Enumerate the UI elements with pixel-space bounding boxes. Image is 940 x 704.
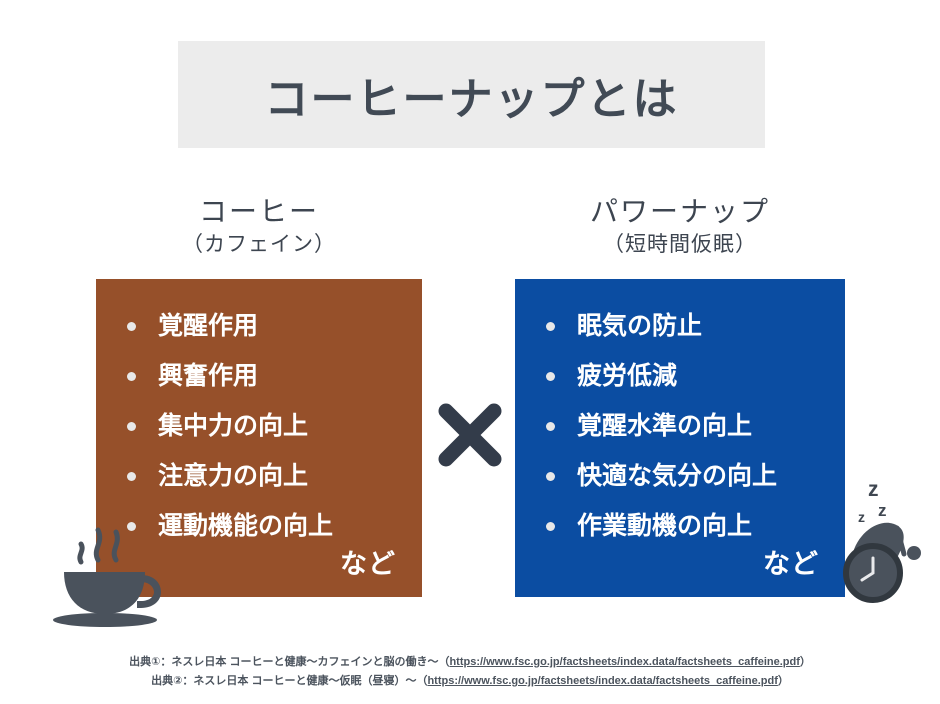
coffee-heading-label: コーヒー bbox=[94, 194, 424, 230]
svg-text:z: z bbox=[868, 478, 879, 501]
footnote-item: 出典①：ネスレ日本 コーヒーと健康～カフェインと脳の働き～（https://ww… bbox=[0, 653, 940, 672]
footnote-url[interactable]: https://www.fsc.go.jp/factsheets/index.d… bbox=[427, 675, 777, 687]
powernap-etc-label: など bbox=[763, 542, 819, 581]
page-title: コーヒーナップとは bbox=[265, 63, 679, 127]
coffee-cup-icon bbox=[48, 522, 178, 627]
svg-text:z: z bbox=[858, 509, 865, 525]
footnote-item: 出典②：ネスレ日本 コーヒーと健康～仮眠（昼寝）～（https://www.fs… bbox=[0, 672, 940, 691]
list-item: 快適な気分の向上 bbox=[533, 451, 827, 501]
powernap-effects-list: 眠気の防止 疲労低減 覚醒水準の向上 快適な気分の向上 作業動機の向上 bbox=[533, 301, 827, 551]
column-heading-powernap: パワーナップ （短時間仮眠） bbox=[515, 194, 845, 260]
list-item: 覚醒水準の向上 bbox=[533, 401, 827, 451]
powernap-heading-label: パワーナップ bbox=[515, 194, 845, 230]
footnote-label: 出典①：ネスレ日本 コーヒーと健康～カフェインと脳の働き～（ bbox=[129, 656, 449, 668]
coffee-etc-label: など bbox=[340, 542, 396, 581]
list-item: 眠気の防止 bbox=[533, 301, 827, 351]
multiply-icon bbox=[435, 400, 505, 470]
title-banner: コーヒーナップとは bbox=[178, 41, 765, 148]
footnote-url[interactable]: https://www.fsc.go.jp/factsheets/index.d… bbox=[449, 656, 799, 668]
powernap-subheading-label: （短時間仮眠） bbox=[515, 230, 845, 260]
footnote-label: 出典②：ネスレ日本 コーヒーと健康～仮眠（昼寝）～（ bbox=[151, 675, 427, 687]
coffee-subheading-label: （カフェイン） bbox=[94, 230, 424, 260]
footnote-close: ） bbox=[778, 675, 789, 687]
list-item: 疲労低減 bbox=[533, 351, 827, 401]
list-item: 注意力の向上 bbox=[114, 451, 404, 501]
footnote-list: 出典①：ネスレ日本 コーヒーと健康～カフェインと脳の働き～（https://ww… bbox=[0, 653, 940, 691]
footnote-close: ） bbox=[800, 656, 811, 668]
svg-text:z: z bbox=[878, 501, 887, 520]
list-item: 集中力の向上 bbox=[114, 401, 404, 451]
coffee-effects-list: 覚醒作用 興奮作用 集中力の向上 注意力の向上 運動機能の向上 bbox=[114, 301, 404, 551]
list-item: 興奮作用 bbox=[114, 351, 404, 401]
powernap-effects-panel: 眠気の防止 疲労低減 覚醒水準の向上 快適な気分の向上 作業動機の向上 など bbox=[515, 279, 845, 597]
list-item: 覚醒作用 bbox=[114, 301, 404, 351]
column-heading-coffee: コーヒー （カフェイン） bbox=[94, 194, 424, 260]
sleeping-clock-icon: z z z bbox=[828, 472, 932, 605]
